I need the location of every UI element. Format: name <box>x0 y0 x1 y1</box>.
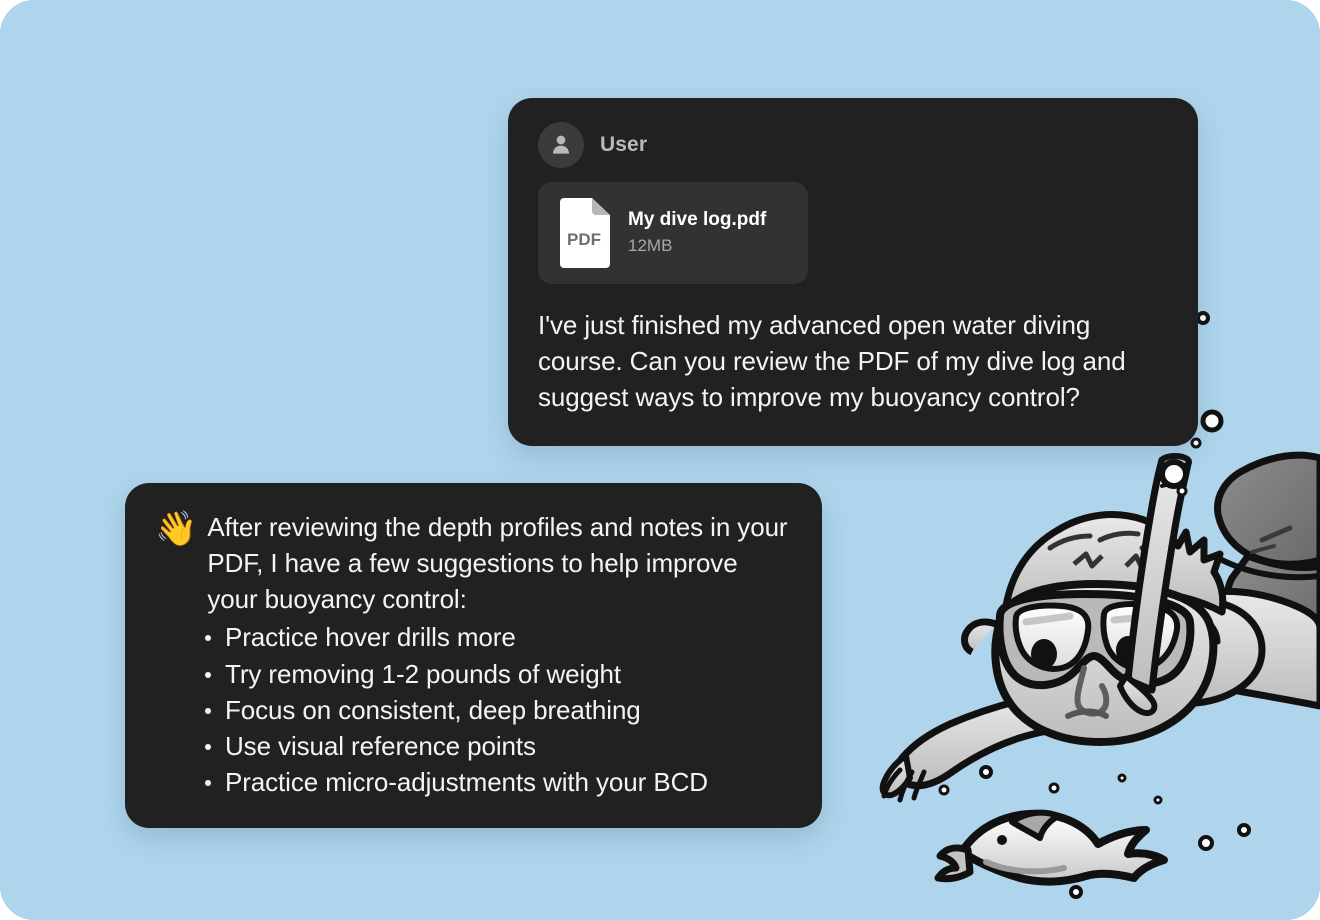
pdf-attachment-card[interactable]: PDF My dive log.pdf 12MB <box>538 182 808 284</box>
chat-scene: User PDF My dive log.pdf 12MB I've just … <box>0 0 1320 920</box>
message-author-row: User <box>538 122 1170 168</box>
message-author-name: User <box>600 133 647 157</box>
list-item: Practice hover drills more <box>203 619 792 655</box>
waving-hand-emoji: 👋 <box>155 511 197 548</box>
assistant-message-bubble: 👋 After reviewing the depth profiles and… <box>125 483 822 828</box>
attachment-meta: My dive log.pdf 12MB <box>628 208 766 259</box>
fish-illustration <box>938 813 1164 882</box>
list-item: Focus on consistent, deep breathing <box>203 692 792 728</box>
suggestion-list: Practice hover drills more Try removing … <box>155 619 792 800</box>
user-message-bubble: User PDF My dive log.pdf 12MB I've just … <box>508 98 1198 446</box>
assistant-message-text: After reviewing the depth profiles and n… <box>207 509 792 617</box>
list-item: Try removing 1-2 pounds of weight <box>203 656 792 692</box>
user-message-text: I've just finished my advanced open wate… <box>538 308 1170 416</box>
pdf-file-icon: PDF <box>554 198 610 268</box>
snorkeler-figure <box>883 455 1320 800</box>
attachment-file-name: My dive log.pdf <box>628 208 766 232</box>
svg-text:PDF: PDF <box>567 230 601 249</box>
list-item: Use visual reference points <box>203 728 792 764</box>
person-avatar-icon <box>538 122 584 168</box>
list-item: Practice micro-adjustments with your BCD <box>203 764 792 800</box>
assistant-intro-row: 👋 After reviewing the depth profiles and… <box>155 509 792 617</box>
attachment-file-size: 12MB <box>628 234 766 258</box>
